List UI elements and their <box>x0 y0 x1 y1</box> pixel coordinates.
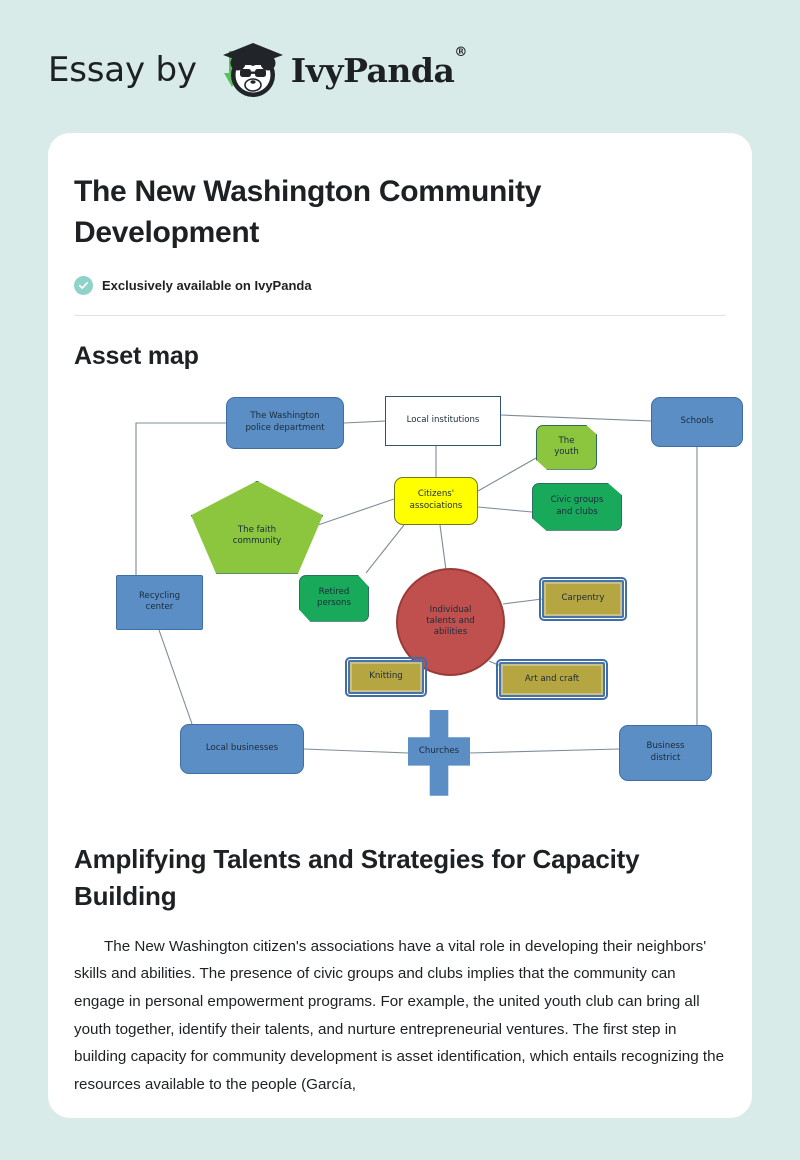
node-knitting[interactable]: Knitting <box>348 660 424 694</box>
node-business-district[interactable]: Business district <box>619 725 712 781</box>
brand-name-text: IvyPanda <box>291 51 455 90</box>
node-local-businesses[interactable]: Local businesses <box>180 724 304 774</box>
page-title: The New Washington Community Development <box>74 171 726 254</box>
brand-essay-label: Essay by <box>48 50 197 90</box>
asset-map-diagram: The Washington police department Local i… <box>74 385 726 815</box>
body-paragraph: The New Washington citizen's association… <box>74 933 726 1099</box>
node-carpentry[interactable]: Carpentry <box>542 580 624 618</box>
brand-header: Essay by IvyPand <box>48 34 467 106</box>
exclusive-badge-label: Exclusively available on IvyPanda <box>102 278 312 293</box>
section-heading-asset-map: Asset map <box>74 342 726 371</box>
node-police-department[interactable]: The Washington police department <box>226 397 344 449</box>
panda-graduate-icon <box>213 37 287 103</box>
ivypanda-logo[interactable]: IvyPanda® <box>213 37 467 103</box>
title-divider <box>74 315 726 316</box>
node-schools[interactable]: Schools <box>651 397 743 447</box>
node-retired-persons[interactable]: Retired persons <box>299 575 369 622</box>
trademark-mark: ® <box>454 45 467 60</box>
node-art-and-craft[interactable]: Art and craft <box>499 662 605 697</box>
check-circle-icon <box>74 276 93 295</box>
brand-name: IvyPanda® <box>291 51 467 90</box>
node-churches-label: Churches <box>408 737 470 765</box>
node-civic-groups[interactable]: Civic groups and clubs <box>532 483 622 531</box>
exclusive-badge: Exclusively available on IvyPanda <box>74 276 726 295</box>
node-the-youth[interactable]: The youth <box>536 425 597 470</box>
node-recycling-center[interactable]: Recycling center <box>116 575 203 630</box>
node-local-institutions[interactable]: Local institutions <box>385 396 501 446</box>
node-citizens-associations[interactable]: Citizens' associations <box>394 477 478 525</box>
section-heading-amplifying-talents: Amplifying Talents and Strategies for Ca… <box>74 841 726 915</box>
document-card: The New Washington Community Development… <box>48 133 752 1118</box>
